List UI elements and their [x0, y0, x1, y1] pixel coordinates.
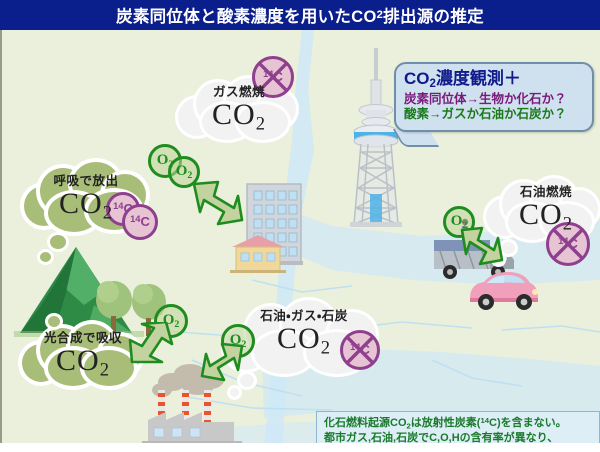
car [464, 270, 542, 312]
page-title: 炭素同位体と酸素濃度を用いたCO2排出源の推定 [0, 0, 600, 30]
cloud-molecule-fossil-mix: CO2 [228, 323, 380, 358]
cloud-label-fossil-mix: 石油・ガス・石炭 CO2 [228, 310, 380, 358]
title-text-before: 炭素同位体と酸素濃度を用いたCO [116, 3, 377, 27]
cloud-label-respiration: 呼吸で放出 CO2 [26, 175, 146, 223]
cloud-molecule-gas-combustion: CO2 [180, 99, 298, 134]
callout-box: CO2濃度観測＋ 炭素同位体→生物か化石か？ 酸素→ガスか石油か石炭か？ [394, 62, 594, 132]
note-line-1: 化石燃料起源CO2は放射性炭素(14C)を含まない。 [324, 416, 594, 431]
cloud-tail-photosynthesis [48, 316, 60, 327]
cloud-tail-respiration-2 [40, 252, 51, 262]
cloud-label-gas-combustion: ガス燃焼 CO2 [180, 86, 298, 134]
diagram-canvas: 呼吸で放出 CO2 14C 14C 光合成で吸収 CO2 [0, 30, 600, 452]
cloud-molecule-oil-combustion: CO2 [490, 199, 600, 234]
arrow-to-building [188, 178, 246, 234]
callout-line-2: 炭素同位体→生物か化石か？ [404, 92, 585, 108]
house [230, 233, 286, 273]
cloud-label-photosynthesis: 光合成で吸収 CO2 [24, 332, 142, 380]
cloud-label-oil-combustion: 石油燃焼 CO2 [490, 186, 600, 234]
bottom-margin [0, 443, 600, 452]
callout-line-1: CO2濃度観測＋ [404, 69, 585, 92]
cloud-molecule-photosynthesis: CO2 [24, 345, 142, 380]
title-bar: 炭素同位体と酸素濃度を用いたCO2排出源の推定 [0, 0, 600, 30]
cloud-molecule-respiration: CO2 [26, 188, 146, 223]
diagram-page: 炭素同位体と酸素濃度を用いたCO2排出源の推定 [0, 0, 600, 452]
title-text-after: 排出源の推定 [383, 3, 484, 27]
callout-line-3: 酸素→ガスか石油か石炭か？ [404, 107, 585, 123]
cloud-tail-respiration-1 [50, 235, 66, 249]
